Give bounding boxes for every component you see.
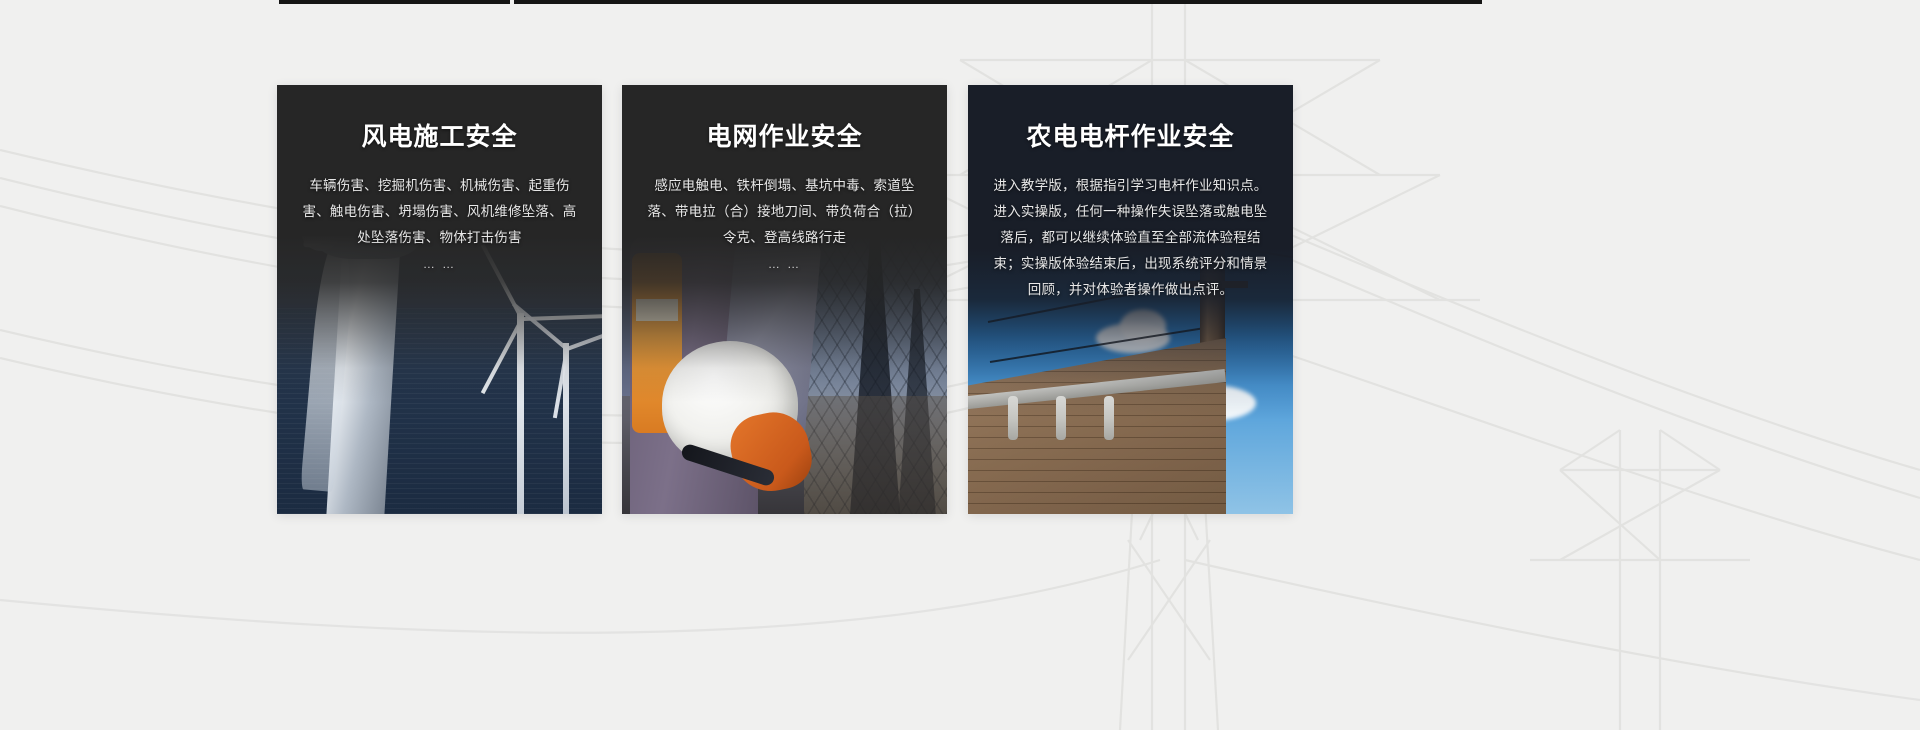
course-card-power-grid-operation-safety[interactable]: 电网作业安全 感应电触电、铁杆倒塌、基坑中毒、索道坠落、带电拉（合）接地刀间、带…: [622, 85, 947, 514]
card-content: 电网作业安全 感应电触电、铁杆倒塌、基坑中毒、索道坠落、带电拉（合）接地刀间、带…: [622, 85, 947, 271]
course-card-rural-power-pole-operation-safety[interactable]: 农电电杆作业安全 进入教学版，根据指引学习电杆作业知识点。进入实操版，任何一种操…: [968, 85, 1293, 514]
card-content: 农电电杆作业安全 进入教学版，根据指引学习电杆作业知识点。进入实操版，任何一种操…: [968, 85, 1293, 303]
card-content: 风电施工安全 车辆伤害、挖掘机伤害、机械伤害、起重伤害、触电伤害、坍塌伤害、风机…: [277, 85, 602, 271]
card-description: 进入教学版，根据指引学习电杆作业知识点。进入实操版，任何一种操作失误坠落或触电坠…: [992, 173, 1269, 303]
course-card-deck: 风电施工安全 车辆伤害、挖掘机伤害、机械伤害、起重伤害、触电伤害、坍塌伤害、风机…: [0, 0, 1920, 730]
card-title: 电网作业安全: [646, 121, 923, 154]
card-description: 车辆伤害、挖掘机伤害、机械伤害、起重伤害、触电伤害、坍塌伤害、风机维修坠落、高处…: [301, 173, 578, 251]
card-description: 感应电触电、铁杆倒塌、基坑中毒、索道坠落、带电拉（合）接地刀间、带负荷合（拉）令…: [646, 173, 923, 251]
card-title: 风电施工安全: [301, 121, 578, 154]
card-title: 农电电杆作业安全: [992, 121, 1269, 154]
course-card-wind-power-construction-safety[interactable]: 风电施工安全 车辆伤害、挖掘机伤害、机械伤害、起重伤害、触电伤害、坍塌伤害、风机…: [277, 85, 602, 514]
card-more-ellipsis: … …: [646, 257, 923, 271]
card-more-ellipsis: … …: [301, 257, 578, 271]
